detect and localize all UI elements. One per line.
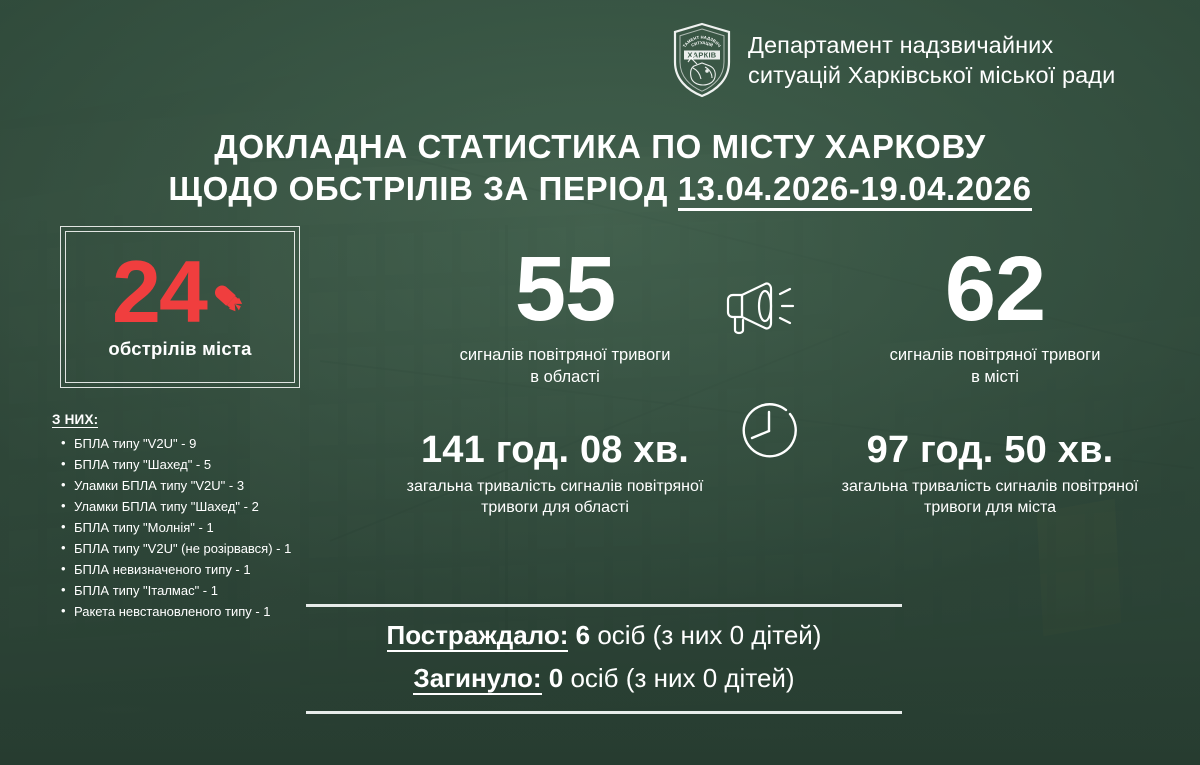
list-item: БПЛА типу "Шахед" - 5: [74, 454, 352, 475]
list-item: Уламки БПЛА типу "Шахед" - 2: [74, 496, 352, 517]
killed-count: 0: [549, 663, 563, 693]
alerts-city-stat: 62 сигналів повітряної тривоги в місті: [835, 243, 1155, 389]
organization-name: Департамент надзвичайних ситуацій Харків…: [748, 30, 1115, 90]
list-item: БПЛА типу "V2U" (не розірвався) - 1: [74, 538, 352, 559]
infographic-poster: ДЕПАРТАМЕНТ НАДЗВИЧАЙНИХ СИТУАЦІЙ ХАРКІВ: [0, 0, 1200, 765]
alerts-oblast-value: 55: [405, 243, 725, 335]
breakdown-header: З НИХ:: [52, 412, 98, 428]
casualties-injured-row: Постраждало: 6 осіб (з них 0 дітей): [306, 620, 902, 651]
megaphone-icon: [718, 272, 800, 344]
injured-label: Постраждало:: [387, 620, 569, 652]
brand-header: ДЕПАРТАМЕНТ НАДЗВИЧАЙНИХ СИТУАЦІЙ ХАРКІВ: [672, 22, 1115, 98]
list-item: БПЛА невизначеного типу - 1: [74, 559, 352, 580]
list-item: БПЛА типу "Італмас" - 1: [74, 580, 352, 601]
injured-rest: осіб (з них 0 дітей): [590, 620, 821, 650]
report-period: 13.04.2026-19.04.2026: [678, 170, 1032, 211]
shellings-count: 24: [112, 252, 206, 333]
killed-rest: осіб (з них 0 дітей): [563, 663, 794, 693]
shellings-caption: обстрілів міста: [108, 338, 251, 360]
title-line-2: ЩОДО ОБСТРІЛІВ ЗА ПЕРІОД 13.04.2026-19.0…: [0, 170, 1200, 208]
casualties-killed-row: Загинуло: 0 осіб (з них 0 дітей): [306, 663, 902, 694]
killed-label: Загинуло:: [413, 663, 541, 695]
duration-oblast-caption: загальна тривалість сигналів повітряної …: [355, 476, 755, 518]
breakdown-section: З НИХ: БПЛА типу "V2U" - 9 БПЛА типу "Ша…: [52, 411, 352, 622]
title-line-2-prefix: ЩОДО ОБСТРІЛІВ ЗА ПЕРІОД: [168, 170, 677, 207]
duration-oblast-value: 141 год. 08 хв.: [355, 430, 755, 471]
injured-count: 6: [576, 620, 590, 650]
duration-city-stat: 97 год. 50 хв. загальна тривалість сигна…: [790, 430, 1190, 518]
breakdown-list: БПЛА типу "V2U" - 9 БПЛА типу "Шахед" - …: [52, 433, 352, 622]
shield-emblem-icon: ДЕПАРТАМЕНТ НАДЗВИЧАЙНИХ СИТУАЦІЙ ХАРКІВ: [672, 22, 732, 98]
bomb-icon: [206, 278, 248, 320]
list-item: Уламки БПЛА типу "V2U" - 3: [74, 475, 352, 496]
duration-city-value: 97 год. 50 хв.: [790, 430, 1190, 471]
duration-oblast-stat: 141 год. 08 хв. загальна тривалість сигн…: [355, 430, 755, 518]
list-item: БПЛА типу "V2U" - 9: [74, 433, 352, 454]
page-title: ДОКЛАДНА СТАТИСТИКА ПО МІСТУ ХАРКОВУ ЩОД…: [0, 128, 1200, 209]
shellings-card: 24 обстрілів міста: [60, 226, 300, 388]
title-line-1: ДОКЛАДНА СТАТИСТИКА ПО МІСТУ ХАРКОВУ: [0, 128, 1200, 166]
alerts-oblast-caption: сигналів повітряної тривоги в області: [405, 345, 725, 389]
alerts-city-caption: сигналів повітряної тривоги в місті: [835, 345, 1155, 389]
duration-city-caption: загальна тривалість сигналів повітряної …: [790, 476, 1190, 518]
divider-top: [306, 604, 902, 607]
alerts-city-value: 62: [835, 243, 1155, 335]
alerts-oblast-stat: 55 сигналів повітряної тривоги в області: [405, 243, 725, 389]
divider-bottom: [306, 711, 902, 714]
list-item: БПЛА типу "Молнія" - 1: [74, 517, 352, 538]
